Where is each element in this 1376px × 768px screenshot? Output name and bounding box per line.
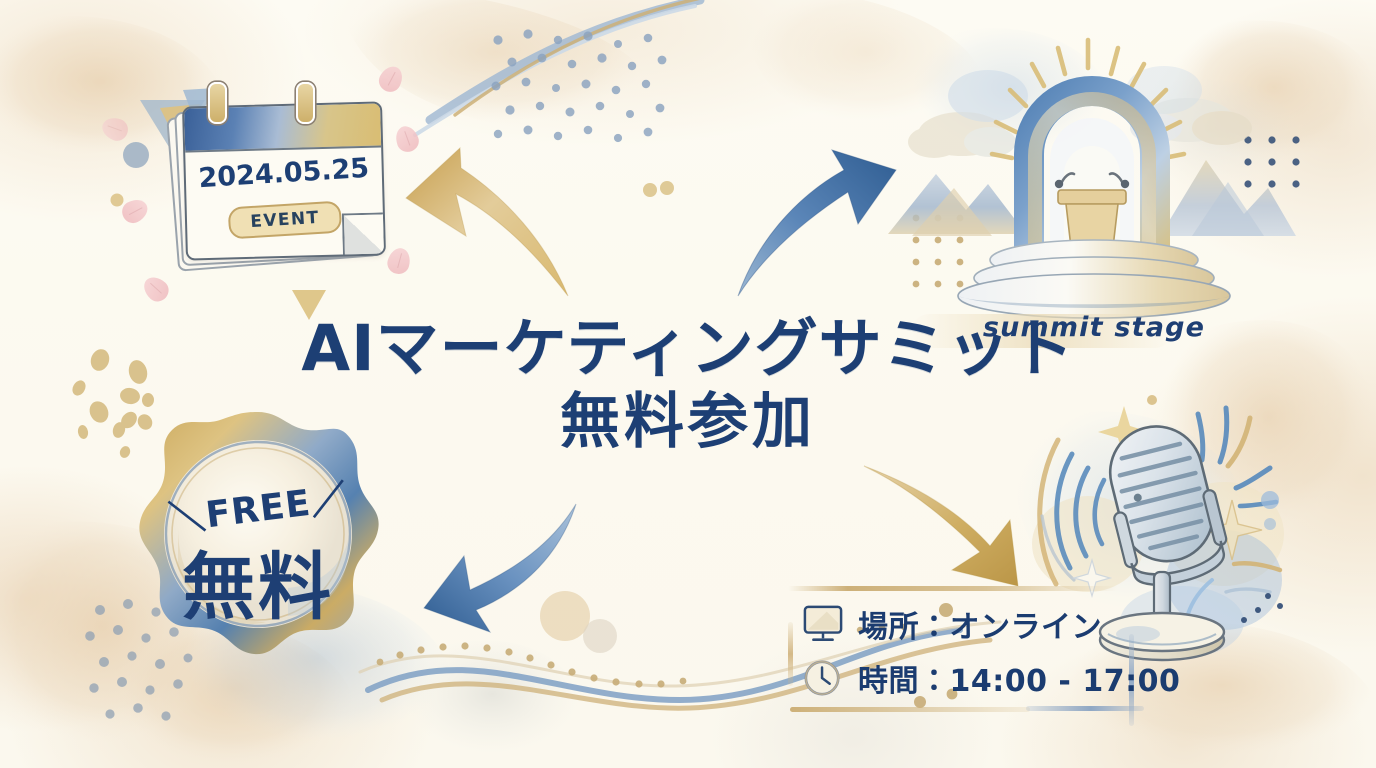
info-row-time: 時間：14:00 - 17:00 (802, 656, 1180, 700)
calendar-date: 2024.05.25 (185, 152, 383, 195)
calendar-ring-right (296, 82, 315, 124)
headline-line-1: AIマーケティングサミット (0, 316, 1376, 383)
info-frame-left (788, 622, 793, 686)
calendar-body: 2024.05.25 EVENT (182, 101, 386, 260)
poster-canvas: 2024.05.25 EVENT (0, 0, 1376, 768)
calendar-page-fold (342, 212, 385, 255)
calendar-ring-left (208, 82, 227, 124)
blue-arrow-up-right-icon (736, 152, 916, 297)
calendar-illustration: 2024.05.25 EVENT (168, 96, 386, 276)
badge-muryo-text: 無料 (138, 528, 378, 634)
stage-graphic (892, 24, 1296, 324)
info-location-text: 場所：オンライン (858, 602, 1102, 646)
info-row-location: 場所：オンライン (802, 602, 1102, 646)
gold-arrow-up-left-icon (386, 150, 596, 300)
event-info-box: 場所：オンライン 時間：14:00 - 17:00 (778, 578, 1138, 720)
info-time-text: 時間：14:00 - 17:00 (858, 656, 1180, 700)
info-frame-bottom-gold (790, 707, 1030, 712)
info-frame-top (788, 586, 1118, 591)
headline-line-2: 無料参加 (0, 389, 1376, 456)
stage-illustration: summit stage (892, 24, 1296, 324)
page-title: AIマーケティングサミット 無料参加 (0, 316, 1376, 456)
info-frame-bottom-blue (1026, 706, 1144, 711)
blue-arrow-down-left-icon (420, 508, 620, 638)
monitor-icon (802, 604, 844, 644)
clock-icon (802, 658, 844, 698)
calendar-event-badge: EVENT (228, 201, 343, 240)
